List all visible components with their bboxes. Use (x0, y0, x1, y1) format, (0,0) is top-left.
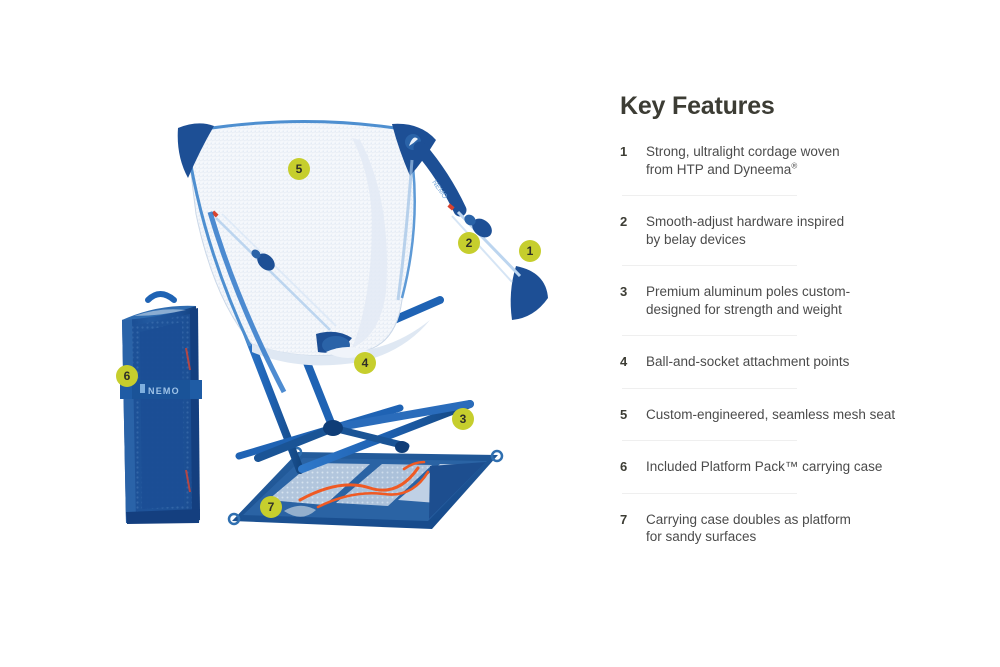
feature-description: Strong, ultralight cordage woven from HT… (646, 143, 840, 178)
feature-number: 3 (620, 283, 646, 300)
feature-description: Carrying case doubles as platform for sa… (646, 511, 851, 546)
feature-line-2: designed for strength and weight (646, 302, 842, 317)
callout-badge-2[interactable]: 2 (458, 232, 480, 254)
feature-description: Included Platform Pack™ carrying case (646, 458, 882, 476)
feature-number: 1 (620, 143, 646, 160)
feature-line-1: Strong, ultralight cordage woven (646, 144, 840, 159)
feature-line-2: from HTP and Dyneema (646, 162, 791, 177)
feature-divider (622, 335, 797, 336)
feature-divider (622, 440, 797, 441)
feature-description: Smooth-adjust hardware inspired by belay… (646, 213, 844, 248)
callout-badge-3[interactable]: 3 (452, 408, 474, 430)
feature-divider (622, 388, 797, 389)
feature-line-2: for sandy surfaces (646, 529, 756, 544)
feature-description: Premium aluminum poles custom- designed … (646, 283, 850, 318)
feature-line-1: Premium aluminum poles custom- (646, 284, 850, 299)
seat-mesh-group (186, 121, 430, 365)
feature-line-1: Carrying case doubles as platform (646, 512, 851, 527)
feature-number: 5 (620, 406, 646, 423)
feature-number: 4 (620, 353, 646, 370)
registered-mark-icon: ® (791, 161, 797, 170)
feature-line-1: Smooth-adjust hardware inspired (646, 214, 844, 229)
feature-number: 6 (620, 458, 646, 475)
feature-divider (622, 265, 797, 266)
feature-divider (622, 493, 797, 494)
callout-badge-4[interactable]: 4 (354, 352, 376, 374)
feature-item-7: 7 Carrying case doubles as platform for … (620, 511, 960, 563)
feature-item-3: 3 Premium aluminum poles custom- designe… (620, 283, 960, 335)
product-illustration: NEMO (0, 0, 600, 667)
feature-item-4: 4 Ball-and-socket attachment points (620, 353, 960, 388)
feature-item-5: 5 Custom-engineered, seamless mesh seat (620, 406, 960, 441)
key-features-panel: Key Features 1 Strong, ultralight cordag… (620, 92, 960, 563)
feature-item-1: 1 Strong, ultralight cordage woven from … (620, 143, 960, 195)
feature-number: 2 (620, 213, 646, 230)
callout-badge-5[interactable]: 5 (288, 158, 310, 180)
callout-badge-6[interactable]: 6 (116, 365, 138, 387)
feature-number: 7 (620, 511, 646, 528)
feature-item-6: 6 Included Platform Pack™ carrying case (620, 458, 960, 493)
page-title: Key Features (620, 92, 960, 121)
feature-description: Custom-engineered, seamless mesh seat (646, 406, 895, 424)
feature-description: Ball-and-socket attachment points (646, 353, 849, 371)
feature-line-2: by belay devices (646, 232, 746, 247)
feature-item-2: 2 Smooth-adjust hardware inspired by bel… (620, 213, 960, 265)
carrying-case-group: NEMO (120, 294, 202, 524)
case-brand-text: NEMO (148, 386, 180, 396)
callout-badge-1[interactable]: 1 (519, 240, 541, 262)
callout-badge-7[interactable]: 7 (260, 496, 282, 518)
feature-divider (622, 195, 797, 196)
